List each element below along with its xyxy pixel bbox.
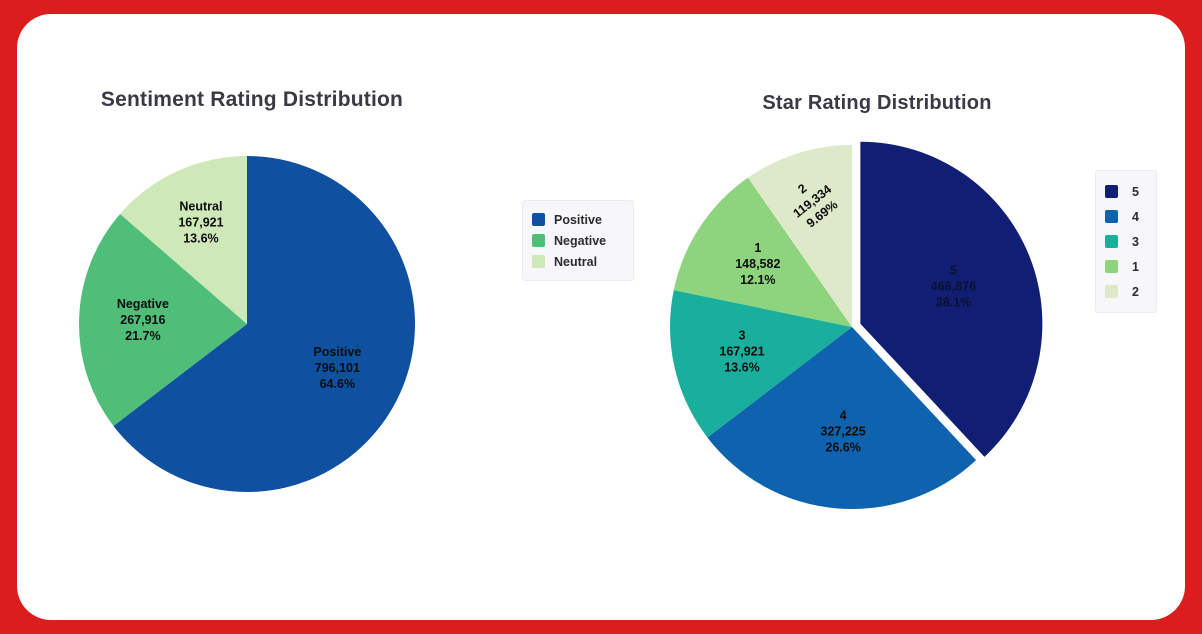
legend-swatch-icon bbox=[532, 234, 545, 247]
star-legend-item[interactable]: 4 bbox=[1105, 204, 1144, 229]
pie-slice-label-line: 12.1% bbox=[740, 273, 775, 287]
pie-slice-label-line: 1 bbox=[754, 241, 761, 255]
pie-slice-label-group: Neutral167,92113.6% bbox=[178, 199, 223, 245]
star-legend-item[interactable]: 2 bbox=[1105, 279, 1144, 304]
legend-item-label: Neutral bbox=[554, 255, 597, 269]
legend-swatch-icon bbox=[1105, 210, 1118, 223]
star-legend: 54312 bbox=[1095, 170, 1157, 313]
pie-slice-label-line: 796,101 bbox=[315, 361, 360, 375]
pie-slice-label-line: 26.6% bbox=[825, 440, 860, 454]
legend-swatch-icon bbox=[1105, 285, 1118, 298]
pie-slice-label-line: 167,921 bbox=[719, 344, 764, 358]
pie-slice-label-line: 167,921 bbox=[178, 215, 223, 229]
legend-swatch-icon bbox=[1105, 260, 1118, 273]
legend-swatch-icon bbox=[1105, 235, 1118, 248]
legend-item-label: Negative bbox=[554, 234, 606, 248]
sentiment-legend-item[interactable]: Negative bbox=[532, 230, 621, 251]
pie-slice-label-line: Positive bbox=[313, 345, 361, 359]
pie-slice-label-line: 148,582 bbox=[735, 257, 780, 271]
legend-item-label: 2 bbox=[1132, 285, 1139, 299]
legend-item-label: 4 bbox=[1132, 210, 1139, 224]
legend-item-label: 1 bbox=[1132, 260, 1139, 274]
sentiment-legend-item[interactable]: Positive bbox=[532, 209, 621, 230]
star-pie-svg: 5468,87638.1%4327,22526.6%3167,92113.6%1… bbox=[667, 142, 1037, 512]
pie-slice-label-line: Negative bbox=[117, 297, 169, 311]
legend-item-label: Positive bbox=[554, 213, 602, 227]
pie-slice-label-line: 21.7% bbox=[125, 329, 160, 343]
sentiment-pie-svg: Positive796,10164.6%Negative267,91621.7%… bbox=[77, 154, 417, 494]
legend-swatch-icon bbox=[1105, 185, 1118, 198]
star-legend-item[interactable]: 1 bbox=[1105, 254, 1144, 279]
pie-slice-label-line: Neutral bbox=[179, 199, 222, 213]
pie-slice-label-line: 13.6% bbox=[724, 360, 759, 374]
sentiment-chart-title: Sentiment Rating Distribution bbox=[17, 88, 487, 112]
star-legend-item[interactable]: 5 bbox=[1105, 179, 1144, 204]
pie-slice-label-line: 468,876 bbox=[931, 279, 976, 293]
star-chart-title: Star Rating Distribution bbox=[617, 92, 1137, 115]
pie-slice-label-line: 3 bbox=[738, 328, 745, 342]
pie-slice-label-line: 64.6% bbox=[320, 377, 355, 391]
legend-item-label: 3 bbox=[1132, 235, 1139, 249]
star-pie-chart: 5468,87638.1%4327,22526.6%3167,92113.6%1… bbox=[667, 142, 1037, 512]
pie-slice-label-line: 38.1% bbox=[936, 295, 971, 309]
sentiment-chart-panel: Sentiment Rating Distribution Positive79… bbox=[17, 14, 487, 620]
legend-swatch-icon bbox=[532, 255, 545, 268]
pie-slice-label-line: 327,225 bbox=[821, 424, 866, 438]
sentiment-legend-item[interactable]: Neutral bbox=[532, 251, 621, 272]
pie-slice-label-group: Positive796,10164.6% bbox=[313, 345, 361, 391]
star-chart-panel: Star Rating Distribution 5468,87638.1%43… bbox=[617, 14, 1137, 620]
star-legend-item[interactable]: 3 bbox=[1105, 229, 1144, 254]
legend-swatch-icon bbox=[532, 213, 545, 226]
pie-slice-label-line: 13.6% bbox=[183, 231, 218, 245]
chart-card: Sentiment Rating Distribution Positive79… bbox=[17, 14, 1185, 620]
pie-slice-label-line: 4 bbox=[840, 408, 847, 422]
pie-slice-label-line: 5 bbox=[950, 263, 957, 277]
sentiment-pie-chart: Positive796,10164.6%Negative267,91621.7%… bbox=[77, 154, 417, 494]
pie-slice-label-line: 267,916 bbox=[120, 313, 165, 327]
legend-item-label: 5 bbox=[1132, 185, 1139, 199]
screenshot-root: Sentiment Rating Distribution Positive79… bbox=[0, 0, 1202, 634]
